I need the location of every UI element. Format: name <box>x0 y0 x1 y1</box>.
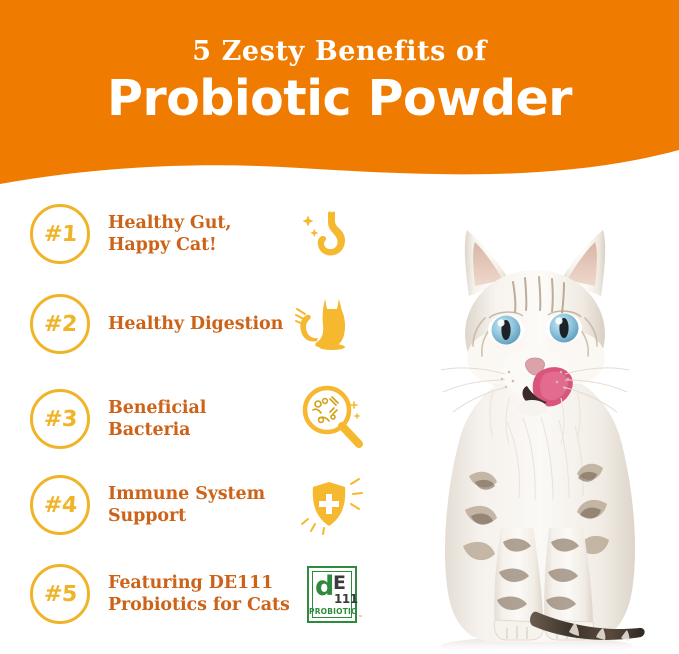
de111-letter-d: d <box>315 573 334 600</box>
benefits-list: #1 Healthy Gut, Happy Cat! #2 Healthy Di… <box>0 196 420 654</box>
benefit-label-3: Beneficial Bacteria <box>108 397 293 442</box>
de111-probiotic-word: PROBIOTIC <box>309 608 355 616</box>
benefit-number-3: #3 <box>43 407 77 432</box>
header-wave-shape <box>0 0 679 200</box>
benefit-number-4: #4 <box>43 493 77 518</box>
benefit-row-3[interactable]: #3 Beneficial Bacteria <box>0 384 420 454</box>
benefit-number-badge-3: #3 <box>30 389 90 449</box>
benefit-row-4[interactable]: #4 Immune System Support <box>0 474 420 536</box>
de111-strain-number: 111 <box>334 593 358 605</box>
cat-eye-right <box>546 313 582 343</box>
stomach-sparkle-icon <box>299 205 357 263</box>
benefit-label-1: Healthy Gut, Happy Cat! <box>108 212 293 257</box>
sitting-cat-icon <box>289 295 349 353</box>
benefit-number-badge-1: #1 <box>30 204 90 264</box>
de111-trademark: ™ <box>358 615 363 621</box>
infographic-canvas: 5 Zesty Benefits of Probiotic Powder #1 … <box>0 0 679 654</box>
cat-photo <box>389 176 679 654</box>
benefit-number-badge-5: #5 <box>30 564 90 624</box>
cat-photo-illustration <box>389 176 679 654</box>
de111-letter-e: E <box>333 574 346 593</box>
header-banner: 5 Zesty Benefits of Probiotic Powder <box>0 0 679 200</box>
benefit-label-5: Featuring DE111 Probiotics for Cats <box>108 572 293 617</box>
magnifying-glass-bacteria-icon <box>299 384 367 454</box>
cat-eye-left <box>488 315 524 345</box>
benefit-number-badge-2: #2 <box>30 294 90 354</box>
benefit-label-2: Healthy Digestion <box>108 313 283 335</box>
benefit-row-5[interactable]: #5 Featuring DE111 Probiotics for Cats d… <box>0 564 420 624</box>
de111-logo-box: d E 111 PROBIOTIC ™ <box>307 566 357 623</box>
benefit-row-2[interactable]: #2 Healthy Digestion <box>0 294 420 354</box>
benefit-number-1: #1 <box>43 222 77 247</box>
benefit-label-4: Immune System Support <box>108 483 293 528</box>
benefit-number-badge-4: #4 <box>30 475 90 535</box>
de111-probiotic-logo: d E 111 PROBIOTIC ™ <box>307 566 357 623</box>
benefit-number-2: #2 <box>43 312 77 337</box>
benefit-number-5: #5 <box>43 582 77 607</box>
shield-plus-icon <box>299 474 365 536</box>
benefit-row-1[interactable]: #1 Healthy Gut, Happy Cat! <box>0 204 420 264</box>
